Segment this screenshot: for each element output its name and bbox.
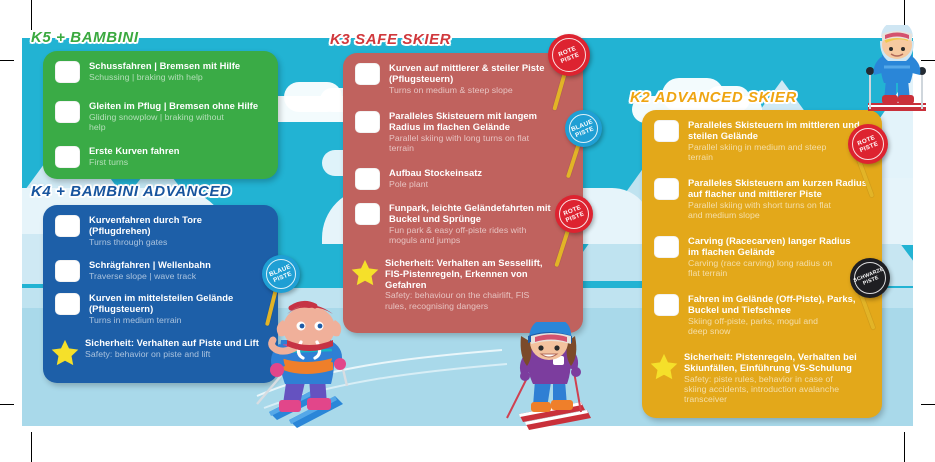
- item-label-de: Gleiten im Pflug | Bremsen ohne Hilfe: [89, 101, 258, 112]
- checkbox-icon[interactable]: [55, 260, 80, 282]
- item-label-de: Paralleles Skisteuern im mittleren und s…: [688, 120, 860, 142]
- item-label-en: Traverse slope | wave track: [89, 271, 211, 281]
- card-k5[interactable]: Schussfahren | Bremsen mit Hilfe Schussi…: [43, 51, 278, 179]
- checkbox-icon[interactable]: [654, 294, 679, 316]
- checkbox-icon[interactable]: [55, 215, 80, 237]
- list-item[interactable]: Sicherheit: Verhalten am Sessellift, FIS…: [353, 258, 579, 311]
- checkbox-icon[interactable]: [55, 61, 80, 83]
- item-label-de: Paralleles Skisteuern mit langem Radius …: [389, 111, 555, 133]
- list-item[interactable]: Schussfahren | Bremsen mit Hilfe Schussi…: [55, 61, 271, 83]
- list-item[interactable]: Aufbau Stockeinsatz Pole plant: [355, 168, 577, 190]
- item-label-en: Schussing | braking with help: [89, 72, 240, 82]
- list-item[interactable]: Kurven im mittelsteilen Gelände (Pflugst…: [55, 293, 271, 325]
- item-label-en: First turns: [89, 157, 180, 167]
- checkbox-icon[interactable]: [654, 178, 679, 200]
- marker-disc[interactable]: ROTEPISTE: [555, 195, 593, 233]
- crop-mark-br-h: [921, 404, 935, 405]
- item-label-de: Schrägfahren | Wellenbahn: [89, 260, 211, 271]
- list-item[interactable]: Erste Kurven fahren First turns: [55, 146, 271, 168]
- list-item[interactable]: Kurvenfahren durch Tore (Pflugdrehen) Tu…: [55, 215, 271, 247]
- star-icon: [50, 338, 80, 367]
- star-icon: [649, 352, 679, 381]
- item-label-de: Kurvenfahren durch Tore (Pflugdrehen): [89, 215, 239, 237]
- checkbox-icon[interactable]: [55, 146, 80, 168]
- item-label-en: Skiing off-piste, parks, mogul and deep …: [688, 316, 828, 336]
- girl-skier: [495, 322, 605, 430]
- item-label-de: Funpark, leichte Geländefahrten mit Buck…: [389, 203, 561, 225]
- item-label-en: Turns through gates: [89, 237, 239, 247]
- item-label-en: Pole plant: [389, 179, 482, 189]
- section-title-k2: K2 ADVANCED SKIER: [630, 89, 797, 106]
- list-item[interactable]: Paralleles Skisteuern im mittleren und s…: [654, 120, 876, 162]
- marker-disc[interactable]: BLAUEPISTE: [565, 110, 602, 147]
- item-label-en: Turns in medium terrain: [89, 315, 257, 325]
- item-label-en: Parallel skiing with long turns on flat …: [389, 133, 539, 153]
- item-label-en: Safety: behavior on piste and lift: [85, 349, 259, 359]
- boy-skier: [862, 25, 932, 115]
- item-label-en: Safety: behaviour on the chairlift, FIS …: [385, 290, 541, 310]
- item-label-de: Paralleles Skisteuern am kurzen Radius a…: [688, 178, 876, 200]
- crop-mark-tl-h: [0, 60, 14, 61]
- list-item[interactable]: Paralleles Skisteuern am kurzen Radius a…: [654, 178, 876, 220]
- crop-mark-bl-h: [0, 404, 14, 405]
- star-icon: [350, 258, 380, 287]
- list-item[interactable]: Gleiten im Pflug | Bremsen ohne Hilfe Gl…: [55, 101, 271, 132]
- mammoth-mascot-skier: [243, 300, 373, 428]
- item-label-de: Schussfahren | Bremsen mit Hilfe: [89, 61, 240, 72]
- list-item[interactable]: Carving (Racecarven) langer Radius im fl…: [654, 236, 876, 278]
- list-item[interactable]: Sicherheit: Pistenregeln, Verhalten bei …: [652, 352, 878, 404]
- item-label-de: Fahren im Gelände (Off-Piste), Parks, Bu…: [688, 294, 864, 316]
- item-label-de: Kurven im mittelsteilen Gelände (Pflugst…: [89, 293, 257, 315]
- card-k2[interactable]: Paralleles Skisteuern im mittleren und s…: [642, 110, 882, 418]
- list-item[interactable]: Funpark, leichte Geländefahrten mit Buck…: [355, 203, 577, 245]
- item-label-de: Sicherheit: Pistenregeln, Verhalten bei …: [684, 352, 870, 374]
- section-title-k5: K5 + BAMBINI: [31, 29, 139, 46]
- crop-mark-br-v: [904, 432, 905, 462]
- checkbox-icon[interactable]: [355, 203, 380, 225]
- checkbox-icon[interactable]: [355, 168, 380, 190]
- item-label-en: Turns on medium & steep slope: [389, 85, 567, 95]
- checkbox-icon[interactable]: [355, 63, 380, 85]
- item-label-de: Sicherheit: Verhalten auf Piste und Lift: [85, 338, 259, 349]
- list-item[interactable]: Fahren im Gelände (Off-Piste), Parks, Bu…: [654, 294, 876, 336]
- crop-mark-tl-v: [31, 0, 32, 30]
- item-label-en: Safety: piste rules, behavior in case of…: [684, 374, 842, 405]
- section-title-k4: K4 + BAMBINI ADVANCED: [31, 183, 232, 200]
- item-label-en: Fun park & easy off-piste rides with mog…: [389, 225, 541, 245]
- list-item[interactable]: Sicherheit: Verhalten auf Piste und Lift…: [53, 338, 273, 367]
- marker-disc[interactable]: SCHWARZEPISTE: [850, 258, 890, 298]
- item-label-de: Aufbau Stockeinsatz: [389, 168, 482, 179]
- checkbox-icon[interactable]: [55, 293, 80, 315]
- item-label-de: Erste Kurven fahren: [89, 146, 180, 157]
- checkbox-icon[interactable]: [654, 236, 679, 258]
- checkbox-icon[interactable]: [355, 111, 380, 133]
- marker-disc[interactable]: ROTEPISTE: [548, 34, 590, 76]
- item-label-en: Parallel skiing in medium and steep terr…: [688, 142, 830, 162]
- infographic-poster: K5 + BAMBINI K4 + BAMBINI ADVANCED K3 SA…: [0, 0, 935, 462]
- item-label-en: Gliding snowplow | braking without help: [89, 112, 239, 132]
- list-item[interactable]: Kurven auf mittlerer & steiler Piste (Pf…: [355, 63, 577, 95]
- checkbox-icon[interactable]: [654, 120, 679, 142]
- item-label-de: Sicherheit: Verhalten am Sessellift, FIS…: [385, 258, 543, 290]
- item-label-en: Carving (race carving) long radius on fl…: [688, 258, 843, 278]
- marker-disc[interactable]: ROTEPISTE: [848, 124, 888, 164]
- section-title-k3: K3 SAFE SKIER: [330, 31, 451, 48]
- list-item[interactable]: Paralleles Skisteuern mit langem Radius …: [355, 111, 577, 153]
- item-label-de: Carving (Racecarven) langer Radius im fl…: [688, 236, 864, 258]
- card-k3[interactable]: Kurven auf mittlerer & steiler Piste (Pf…: [343, 53, 583, 333]
- item-label-en: Parallel skiing with short turns on flat…: [688, 200, 836, 220]
- crop-mark-bl-v: [31, 432, 32, 462]
- item-label-de: Kurven auf mittlerer & steiler Piste (Pf…: [389, 63, 567, 85]
- marker-disc[interactable]: BLAUEPISTE: [262, 255, 300, 293]
- checkbox-icon[interactable]: [55, 101, 80, 123]
- list-item[interactable]: Schrägfahren | Wellenbahn Traverse slope…: [55, 260, 271, 282]
